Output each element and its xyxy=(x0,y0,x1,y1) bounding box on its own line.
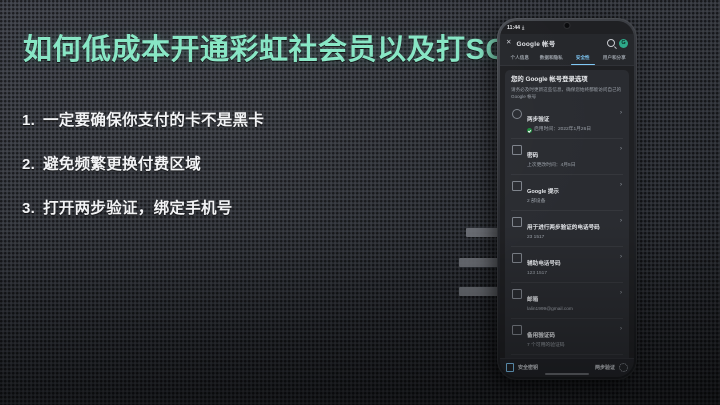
row-subtitle-text: lalin1999@gmail.com xyxy=(527,307,573,313)
list-item-label: 一定要确保你支付的卡不是黑卡 xyxy=(43,108,264,130)
home-indicator xyxy=(545,373,589,375)
chevron-right-icon: › xyxy=(620,110,622,116)
phone-icon xyxy=(512,253,522,263)
list-item-2sv-phone[interactable]: 用于进行两步验证的电话号码 23 1517 › xyxy=(511,210,623,246)
row-subtitle: lalin1999@gmail.com xyxy=(527,307,615,313)
row-subtitle: 2 部设备 xyxy=(527,199,615,205)
sms-icon xyxy=(512,217,522,227)
mail-icon xyxy=(512,289,522,299)
tab-bar: 个人信息 数据和隐私 安全性 用户和分享 xyxy=(500,52,634,66)
signin-options-list: 两步验证 启用时间：2022年1月26日 › 密码 xyxy=(511,103,623,354)
tab-data-privacy[interactable]: 数据和隐私 xyxy=(536,52,568,65)
card-title: 您的 Google 帐号登录选项 xyxy=(511,76,623,85)
row-subtitle-text: 2 部设备 xyxy=(527,199,545,205)
chevron-right-icon: › xyxy=(620,290,622,296)
bullet-list: 1. 一定要确保你支付的卡不是黑卡 2. 避免频繁更换付费区域 3. 打开两步验… xyxy=(22,108,452,240)
tab-security[interactable]: 安全性 xyxy=(567,52,599,65)
phone-check-icon xyxy=(512,109,522,119)
list-item-number: 2. xyxy=(22,156,38,173)
phone-mockup: 11:44 ⤓ ✕ Google 帐号 G 个人信息 数据和隐私 安全性 用户和… xyxy=(497,18,637,380)
search-icon[interactable] xyxy=(607,39,615,47)
status-bar-time: 11:44 xyxy=(507,25,520,31)
list-item: 1. 一定要确保你支付的卡不是黑卡 xyxy=(22,108,452,130)
chevron-right-icon: › xyxy=(620,182,622,188)
row-title: 密码 xyxy=(527,153,538,159)
phone-screen: 11:44 ⤓ ✕ Google 帐号 G 个人信息 数据和隐私 安全性 用户和… xyxy=(500,21,634,377)
security-key-icon xyxy=(506,363,514,372)
list-item-two-step[interactable]: 两步验证 启用时间：2022年1月26日 › xyxy=(511,103,623,138)
chevron-right-icon: › xyxy=(620,326,622,332)
list-item-google-prompt[interactable]: Google 提示 2 部设备 › xyxy=(511,174,623,210)
list-item: 3. 打开两步验证，绑定手机号 xyxy=(22,196,452,218)
password-icon xyxy=(512,145,522,155)
chevron-right-icon: › xyxy=(620,218,622,224)
card-subtitle: 请务必及时更新这些信息，确保您始终都能访问自己的 Google 帐号 xyxy=(511,87,623,101)
list-item: 2. 避免频繁更换付费区域 xyxy=(22,152,452,174)
row-subtitle: 上次更改时间：4月5日 xyxy=(527,163,615,169)
row-title: 备用验证码 xyxy=(527,333,555,339)
presentation-slide: 如何低成本开通彩虹社会员以及打SC 1. 一定要确保你支付的卡不是黑卡 2. 避… xyxy=(0,0,720,405)
tab-people-sharing[interactable]: 用户和分享 xyxy=(599,52,631,65)
app-search-bar[interactable]: ✕ Google 帐号 G xyxy=(500,34,634,52)
row-subtitle-text: 7 个可用的验证码 xyxy=(527,343,565,349)
row-subtitle: 启用时间：2022年1月26日 xyxy=(527,127,615,133)
list-item-number: 3. xyxy=(22,200,38,217)
download-icon: ⤓ xyxy=(522,25,524,31)
bottom-bar-label-right[interactable]: 两步验证 xyxy=(595,364,615,371)
row-subtitle-text: 123 1517 xyxy=(527,271,547,277)
row-title: 两步验证 xyxy=(527,117,549,123)
row-title: 邮箱 xyxy=(527,297,538,303)
row-title: 用于进行两步验证的电话号码 xyxy=(527,225,600,231)
row-title: Google 提示 xyxy=(527,189,559,195)
app-title: Google 帐号 xyxy=(516,38,555,48)
row-title: 辅助电话号码 xyxy=(527,261,561,267)
page-title: 如何低成本开通彩虹社会员以及打SC xyxy=(23,26,507,68)
list-item-email[interactable]: 邮箱 lalin1999@gmail.com › xyxy=(511,282,623,318)
device-icon xyxy=(512,181,522,191)
row-subtitle: 23 1517 xyxy=(527,235,615,241)
row-subtitle-text: 启用时间：2022年1月26日 xyxy=(534,127,591,133)
row-subtitle: 123 1517 xyxy=(527,271,615,277)
tab-personal-info[interactable]: 个人信息 xyxy=(504,52,536,65)
list-item-backup-codes[interactable]: 备用验证码 7 个可用的验证码 › xyxy=(511,318,623,354)
row-subtitle-text: 23 1517 xyxy=(527,235,544,241)
avatar[interactable]: G xyxy=(619,39,628,48)
camera-notch-icon xyxy=(565,23,570,28)
list-item-label: 打开两步验证，绑定手机号 xyxy=(43,196,233,218)
list-item-label: 避免频繁更换付费区域 xyxy=(43,152,201,174)
row-subtitle: 7 个可用的验证码 xyxy=(527,343,615,349)
search-bar-actions: G xyxy=(607,39,628,48)
bottom-bar-label-left[interactable]: 安全密钥 xyxy=(518,364,538,371)
list-item-password[interactable]: 密码 上次更改时间：4月5日 › xyxy=(511,138,623,174)
list-item-number: 1. xyxy=(22,112,38,129)
gear-icon[interactable] xyxy=(619,363,628,372)
list-item-recovery-phone[interactable]: 辅助电话号码 123 1517 › xyxy=(511,246,623,282)
signin-options-card: 您的 Google 帐号登录选项 请务必及时更新这些信息，确保您始终都能访问自己… xyxy=(505,70,629,358)
check-circle-icon xyxy=(527,128,532,133)
row-subtitle-text: 上次更改时间：4月5日 xyxy=(527,163,576,169)
security-content: 您的 Google 帐号登录选项 请务必及时更新这些信息，确保您始终都能访问自己… xyxy=(500,66,634,358)
chevron-right-icon: › xyxy=(620,254,622,260)
chevron-right-icon: › xyxy=(620,146,622,152)
close-icon[interactable]: ✕ xyxy=(506,40,511,47)
backup-codes-icon xyxy=(512,325,522,335)
